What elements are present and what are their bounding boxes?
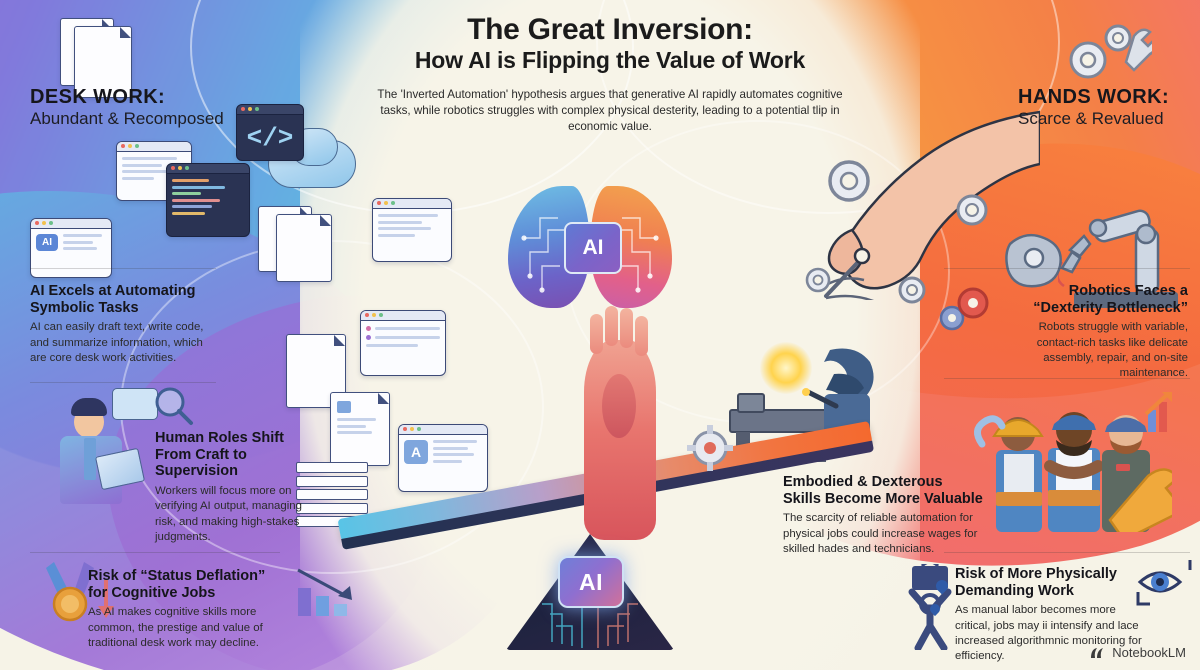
- callout-heading: AI Excels at Automating Symbolic Tasks: [30, 283, 212, 316]
- callout-status-deflation: Risk of “Status Deflation” for Cognitive…: [88, 568, 280, 651]
- callout-ai-excels: AI Excels at Automating Symbolic Tasks A…: [30, 283, 212, 366]
- magnifier-icon: [152, 384, 196, 428]
- text-window-a-icon: A: [398, 424, 488, 492]
- callout-body: AI can easily draft text, write code, an…: [30, 320, 212, 366]
- left-section-header: DESK WORK: Abundant & Recomposed: [30, 86, 224, 129]
- human-arm-illustration: [584, 340, 656, 540]
- page-title: The Great Inversion:: [360, 14, 860, 46]
- callout-body: As AI makes cognitive skills more common…: [88, 605, 280, 651]
- a-badge: A: [404, 440, 428, 464]
- callout-heading: Risk of More Physically Demanding Work: [955, 566, 1151, 599]
- divider: [30, 382, 216, 383]
- code-window-icon: </>: [236, 104, 304, 161]
- gear-icon: [950, 188, 994, 232]
- ai-brain-illustration: AI: [508, 186, 672, 308]
- callout-human-roles: Human Roles Shift From Craft to Supervis…: [155, 430, 305, 545]
- gear-icon: [820, 152, 878, 210]
- right-section-header: HANDS WORK: Scarce & Revalued: [1018, 86, 1169, 129]
- right-header-title: HANDS WORK:: [1018, 86, 1169, 108]
- red-gear-icon: [952, 282, 994, 324]
- watermark-label: NotebookLM: [1112, 645, 1186, 660]
- page-description: The 'Inverted Automation' hypothesis arg…: [360, 87, 860, 136]
- title-block: The Great Inversion: How AI is Flipping …: [360, 14, 860, 136]
- machine-part-icon: [1002, 226, 1068, 288]
- muscle-detail: [602, 374, 636, 438]
- ai-document-window-icon: AI: [30, 218, 112, 278]
- code-symbol: </>: [237, 115, 303, 161]
- gear-icon: [892, 270, 932, 310]
- hand-with-tools-illustration: [740, 110, 1040, 300]
- left-header-subtitle: Abundant & Recomposed: [30, 109, 224, 129]
- callout-heading: Human Roles Shift From Craft to Supervis…: [155, 430, 305, 480]
- supervisor-illustration: [40, 392, 148, 504]
- divider: [30, 268, 216, 269]
- welding-spark: [760, 342, 812, 394]
- callout-heading: Robotics Faces a “Dexterity Bottleneck”: [1000, 283, 1188, 316]
- notebooklm-watermark: NotebookLM: [1089, 645, 1186, 660]
- callout-dexterity-bottleneck: Robotics Faces a “Dexterity Bottleneck” …: [1000, 283, 1188, 381]
- gear-icon: [686, 424, 734, 472]
- gear-icon: [800, 262, 836, 298]
- brain-ai-chip: AI: [564, 222, 622, 274]
- callout-heading: Risk of “Status Deflation” for Cognitive…: [88, 568, 280, 601]
- code-editor-window-icon: [166, 163, 250, 237]
- callout-embodied-skills: Embodied & Dexterous Skills Become More …: [783, 474, 983, 557]
- callout-heading: Embodied & Dexterous Skills Become More …: [783, 474, 983, 507]
- callout-body: Workers will focus more on verifying AI …: [155, 484, 305, 545]
- callout-body: The scarcity of reliable automation for …: [783, 511, 983, 557]
- text-window-icon: [360, 310, 446, 376]
- text-window-icon: [372, 198, 452, 262]
- fulcrum-ai-chip: AI: [558, 556, 624, 608]
- infographic-canvas: </> AI: [0, 0, 1200, 670]
- divider: [944, 268, 1190, 269]
- document-icon: [276, 214, 332, 282]
- right-header-subtitle: Scarce & Revalued: [1018, 109, 1169, 129]
- declining-bar-chart-icon: [292, 562, 358, 620]
- tradespeople-illustration: [952, 392, 1172, 532]
- page-subtitle: How AI is Flipping the Value of Work: [360, 48, 860, 74]
- divider: [30, 552, 280, 553]
- tablet-icon: [95, 448, 145, 490]
- document-icon-with-avatar: [330, 392, 390, 466]
- gear-wrench-icon: [1060, 18, 1152, 92]
- callout-body: Robots struggle with variable, contact-r…: [1000, 320, 1188, 381]
- hair: [71, 398, 107, 416]
- left-header-title: DESK WORK:: [30, 86, 224, 108]
- ai-badge: AI: [36, 234, 58, 251]
- notebooklm-logo-icon: [1089, 646, 1106, 660]
